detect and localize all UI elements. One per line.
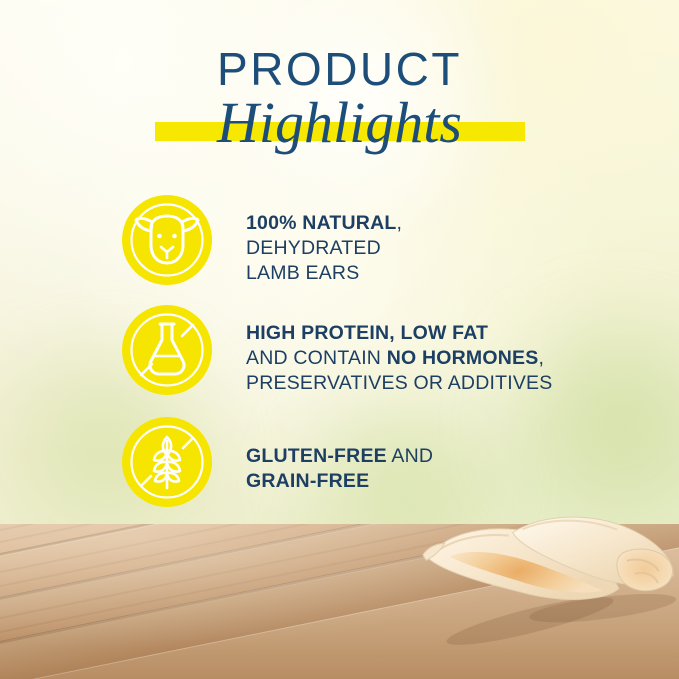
highlight-line-text: DEHYDRATED — [246, 237, 381, 259]
highlight-line-text: , — [396, 212, 402, 234]
page-title: PRODUCT Highlights — [0, 46, 679, 158]
highlight-line-text: PRESERVATIVES OR ADDITIVES — [246, 372, 552, 394]
highlight-text-natural: 100% NATURAL, DEHYDRATED LAMB EARS — [246, 195, 402, 286]
highlight-line-text: GRAIN-FREE — [246, 470, 369, 492]
highlight-item-protein: HIGH PROTEIN, LOW FAT AND CONTAIN NO HOR… — [122, 305, 552, 396]
highlight-line-text: 100% NATURAL — [246, 212, 396, 234]
wooden-table-surface — [0, 524, 679, 679]
no-chemicals-flask-icon — [122, 305, 212, 395]
highlight-line-text: LAMB EARS — [246, 262, 359, 284]
highlight-line-text: AND — [387, 445, 433, 467]
no-grain-wheat-icon — [122, 417, 212, 507]
highlight-line-text: AND CONTAIN — [246, 347, 387, 369]
highlight-line-text: , — [538, 347, 544, 369]
highlight-line-text: NO HORMONES — [387, 347, 539, 369]
highlight-line-text: HIGH PROTEIN, LOW FAT — [246, 322, 488, 344]
product-highlights-graphic: PRODUCT Highlights — [0, 0, 679, 679]
title-highlights: Highlights — [217, 90, 462, 155]
highlight-item-grain-free: GLUTEN-FREE AND GRAIN-FREE — [122, 417, 433, 507]
title-product: PRODUCT — [0, 46, 679, 92]
highlight-text-protein: HIGH PROTEIN, LOW FAT AND CONTAIN NO HOR… — [246, 305, 552, 396]
title-highlights-wrap: Highlights — [0, 94, 679, 158]
highlight-line-text: GLUTEN-FREE — [246, 445, 387, 467]
highlight-text-grain-free: GLUTEN-FREE AND GRAIN-FREE — [246, 417, 433, 494]
highlight-item-natural: 100% NATURAL, DEHYDRATED LAMB EARS — [122, 195, 402, 286]
lamb-head-icon — [122, 195, 212, 285]
